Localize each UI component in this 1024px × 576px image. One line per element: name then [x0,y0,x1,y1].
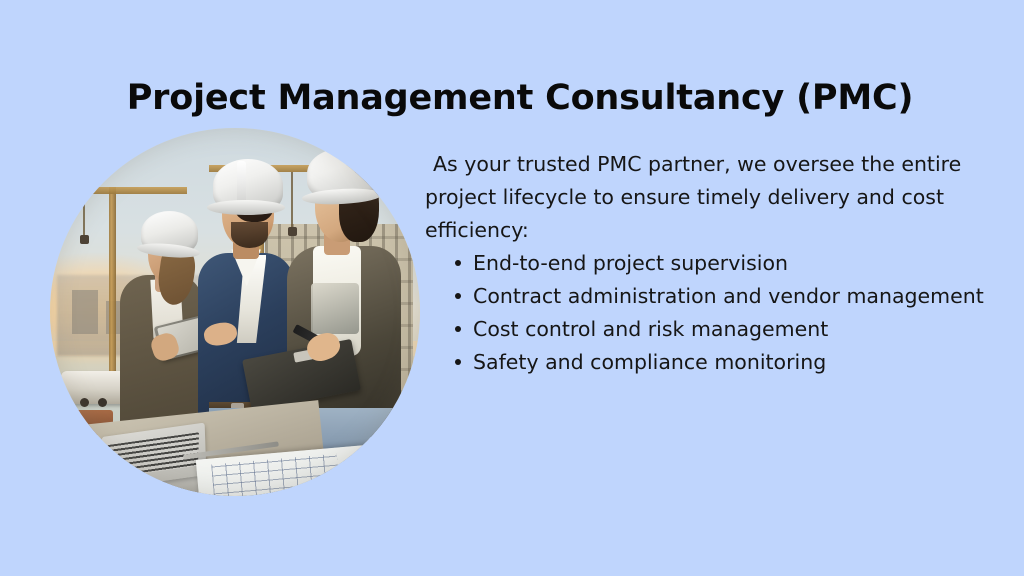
crane-jib [61,187,187,194]
construction-site-photo [50,128,420,496]
list-item: End-to-end project supervision [425,247,1010,280]
list-item: Safety and compliance monitoring [425,346,1010,379]
city-building [72,290,98,334]
crane-hook-line [291,172,293,231]
list-item-label: Contract administration and vendor manag… [473,284,984,308]
page-title: Project Management Consultancy (PMC) [0,79,1024,118]
crane-mast [109,187,116,371]
list-item: Contract administration and vendor manag… [425,280,1010,313]
bullet-dot-icon [455,359,461,365]
bullet-dot-icon [455,326,461,332]
crane-hook-block [288,227,297,236]
list-item-label: Cost control and risk management [473,317,828,341]
person-right-scarf [311,283,359,335]
hero-image-circle [50,128,420,496]
service-bullet-list: End-to-end project supervision Contract … [425,247,1010,379]
bullet-dot-icon [455,293,461,299]
intro-paragraph: As your trusted PMC partner, we oversee … [425,148,1010,247]
list-item-label: End-to-end project supervision [473,251,788,275]
crane-hook-line [83,194,85,238]
crane-hook-block [80,235,89,244]
bullet-dot-icon [455,260,461,266]
person-center-beard [231,222,268,248]
list-item-label: Safety and compliance monitoring [473,350,826,374]
slide-canvas: Project Management Consultancy (PMC) [0,0,1024,576]
person-center-hardhat-brim [207,200,285,215]
list-item: Cost control and risk management [425,313,1010,346]
content-text-column: As your trusted PMC partner, we oversee … [425,148,1010,379]
